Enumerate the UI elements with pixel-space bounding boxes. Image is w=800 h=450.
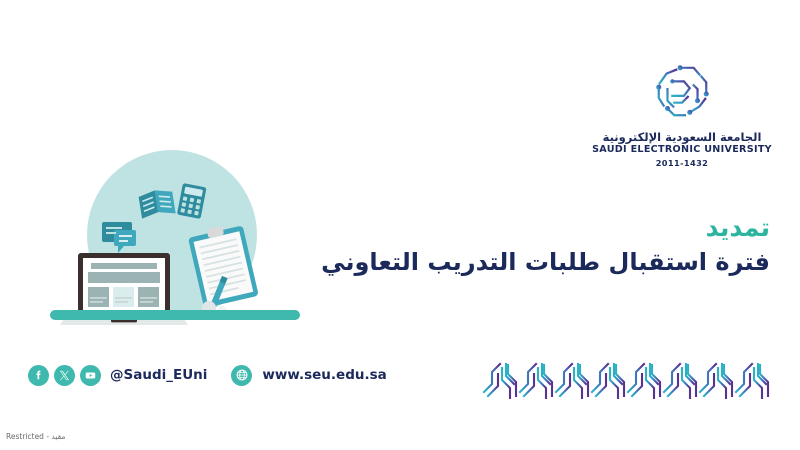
youtube-icon[interactable]: [80, 365, 101, 386]
x-twitter-icon[interactable]: [54, 365, 75, 386]
x-twitter-glyph: [59, 370, 70, 381]
youtube-glyph: [84, 369, 97, 382]
website-url[interactable]: www.seu.edu.sa: [262, 367, 386, 383]
restricted-footer-note: Restricted - مقيد: [6, 432, 65, 441]
logo-year: 2011-1432: [592, 157, 772, 169]
circuit-pattern-band: [482, 362, 772, 402]
logo-english-name: SAUDI ELECTRONIC UNIVERSITY: [592, 144, 772, 157]
headline-main: فترة استقبال طلبات التدريب التعاوني: [321, 247, 770, 278]
globe-glyph: [235, 368, 249, 382]
circuit-pattern-svg: [482, 362, 772, 402]
logo-arabic-name: الجامعة السعودية الإلكترونية: [592, 130, 772, 144]
social-handle: @Saudi_EUni: [110, 367, 207, 383]
facebook-icon[interactable]: [28, 365, 49, 386]
illustration-ground-bar: [50, 310, 300, 320]
seu-logo: الجامعة السعودية الإلكترونية SAUDI ELECT…: [592, 62, 772, 170]
seu-hexagon-circuit-logo-icon: [651, 62, 713, 124]
online-learning-illustration: [50, 150, 300, 340]
social-bar: @Saudi_EUni www.seu.edu.sa: [28, 362, 387, 388]
headline-kicker: تمديد: [321, 212, 770, 243]
globe-icon[interactable]: [231, 365, 252, 386]
slide-canvas: الجامعة السعودية الإلكترونية SAUDI ELECT…: [0, 0, 800, 450]
facebook-glyph: [32, 369, 45, 382]
headline: تمديد فترة استقبال طلبات التدريب التعاون…: [321, 212, 770, 278]
